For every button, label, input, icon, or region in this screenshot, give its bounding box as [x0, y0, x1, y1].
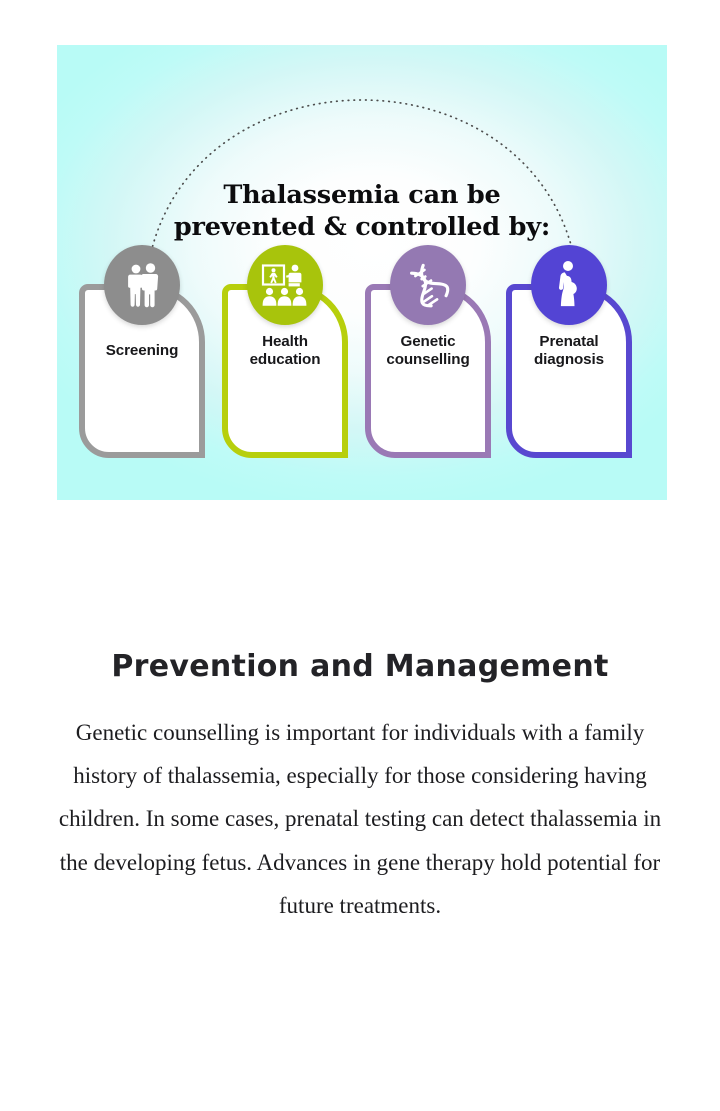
couple-icon-glyph: [122, 262, 162, 308]
page-root: Thalassemia can be prevented & controlle…: [0, 0, 720, 1111]
infographic-image: Thalassemia can be prevented & controlle…: [57, 45, 667, 500]
article-section: Prevention and Management Genetic counse…: [0, 560, 720, 927]
card-label-line-2: counselling: [386, 351, 469, 369]
classroom-presentation-icon-glyph: [261, 263, 309, 307]
page-title: Prevention and Management: [30, 560, 690, 683]
card-label-line-1: Genetic: [386, 333, 469, 351]
card-label-line-1: Prenatal: [534, 333, 604, 351]
dna-helix-icon: [390, 245, 466, 325]
pregnant-woman-icon: [531, 245, 607, 325]
card-group: Screening Health: [57, 45, 667, 500]
couple-icon: [104, 245, 180, 325]
card-label-line-1: Health: [250, 333, 321, 351]
pregnant-woman-icon-glyph: [554, 260, 584, 310]
card-label-line-1: Screening: [106, 342, 179, 360]
classroom-presentation-icon: [247, 245, 323, 325]
article-paragraph: Genetic counselling is important for ind…: [30, 683, 690, 927]
dna-helix-icon-glyph: [405, 262, 451, 308]
card-label-line-2: education: [250, 351, 321, 369]
infographic-canvas: Thalassemia can be prevented & controlle…: [57, 45, 667, 500]
card-label-line-2: diagnosis: [534, 351, 604, 369]
